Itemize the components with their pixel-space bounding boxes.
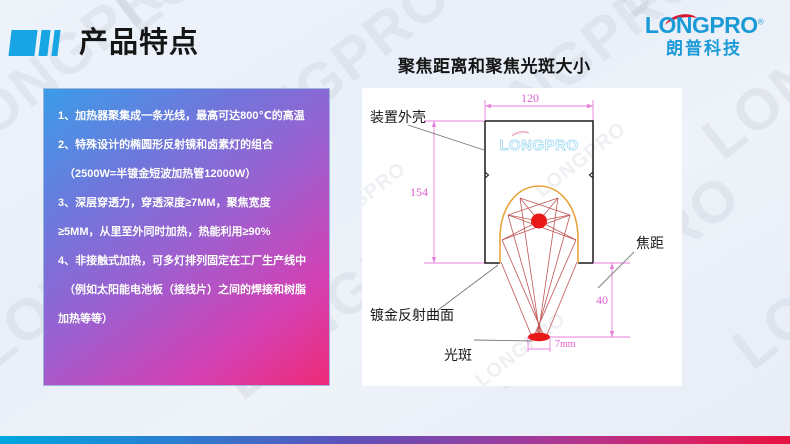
label-focal: 焦距 (636, 236, 664, 252)
page-title: 产品特点 (79, 29, 199, 58)
feature-line: 4、非接触式加热，可多灯排列固定在工厂生产线中 (58, 256, 315, 267)
dimension-focal-value: 40 (596, 293, 608, 307)
brand-name-text: LONGPRO (645, 12, 758, 38)
dimension-width-120: 120 (485, 91, 593, 128)
dimension-height-154: 154 (410, 121, 488, 263)
dimension-width-value: 120 (521, 91, 539, 105)
brand-sub-name: 朗普科技 (634, 40, 774, 57)
feature-list-panel: 1、加热器聚集成一条光线，最高可达800℃的高温2、特殊设计的椭圆形反射镜和卤素… (43, 88, 330, 386)
diagram-card: LONGPRO LONGPRO LONGPRO 120 154 (362, 88, 682, 386)
dimension-height-value: 154 (410, 185, 428, 199)
lamp-source-icon (531, 214, 547, 229)
feature-line: 3、深层穿透力，穿透深度≥7MM，聚焦宽度 (58, 198, 315, 209)
watermark-text: LONGPRO (720, 141, 790, 383)
feature-line: 加热等等） (58, 314, 315, 325)
label-reflector: 镀金反射曲面 (370, 307, 454, 324)
svg-text:LONGPRO: LONGPRO (499, 137, 578, 154)
label-spot: 光斑 (444, 348, 472, 364)
brand-logo: LONGPRO® 朗普科技 (634, 14, 774, 57)
accent-bars (10, 30, 59, 56)
focal-spot-icon (528, 333, 550, 341)
feature-line: （2500W=半镀金短波加热管12000W） (58, 169, 315, 180)
brand-name: LONGPRO® (645, 14, 763, 37)
page-header: 产品特点 (0, 22, 199, 64)
accent-bar-icon (38, 30, 50, 56)
feature-line: （例如太阳能电池板（接线片）之间的焊接和树脂 (58, 285, 315, 296)
focus-distance-diagram: LONGPRO LONGPRO LONGPRO 120 154 (362, 88, 682, 386)
feature-line: 1、加热器聚集成一条光线，最高可达800℃的高温 (58, 111, 315, 122)
bottom-accent-strip (0, 436, 790, 444)
accent-bar-icon (8, 30, 37, 56)
registered-mark: ® (758, 17, 763, 26)
diagram-title: 聚焦距离和聚焦光斑大小 (398, 52, 591, 77)
feature-line: ≥5MM，从里至外同时加热，热能利用≥90% (58, 227, 315, 238)
diagram-watermark: LONGPRO (362, 158, 410, 242)
dimension-spot-value: 7mm (555, 339, 576, 350)
diagram-watermark: LONGPRO (532, 118, 631, 202)
accent-bar-icon (51, 30, 60, 56)
feature-line: 2、特殊设计的椭圆形反射镜和卤素灯的组合 (58, 140, 315, 151)
label-housing: 装置外壳 (370, 109, 426, 126)
watermark-text: LONGPRO (350, 0, 633, 13)
housing-logo-watermark: LONGPRO (499, 131, 578, 154)
